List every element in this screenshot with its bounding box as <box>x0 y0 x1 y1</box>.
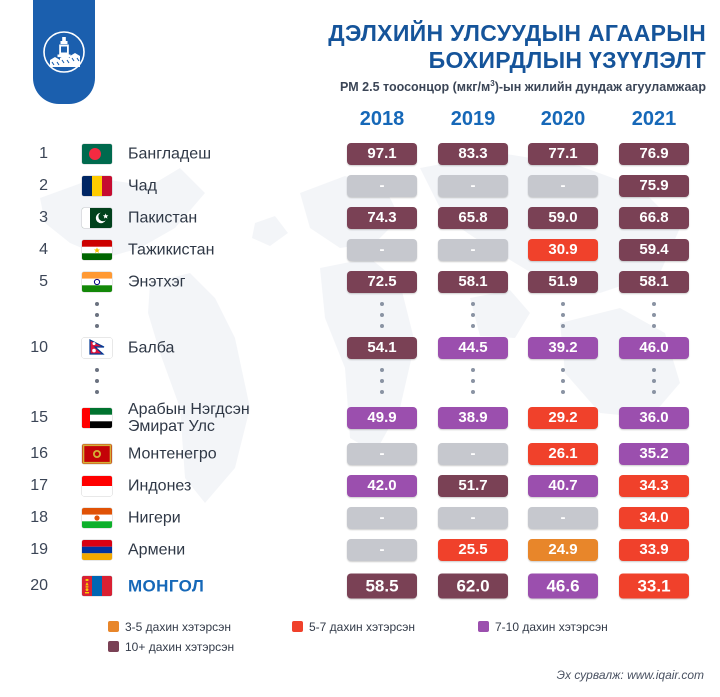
rank-gap-separator <box>0 298 720 332</box>
ellipsis-dots <box>652 302 656 335</box>
table-row: 10Балба54.144.539.246.0 <box>0 332 720 364</box>
ellipsis-dot <box>471 379 475 383</box>
ellipsis-dot <box>95 302 99 306</box>
value-cell: 58.1 <box>438 271 508 293</box>
country-name: Армени <box>128 542 185 559</box>
column-header-2021: 2021 <box>619 108 689 131</box>
ellipsis-dot <box>380 324 384 328</box>
value-cell: - <box>528 507 598 529</box>
country-name: МОНГОЛ <box>128 578 204 595</box>
value-cell: - <box>438 507 508 529</box>
flag-montenegro-icon <box>82 444 112 464</box>
ellipsis-dots <box>652 368 656 401</box>
value-cell: 58.1 <box>619 271 689 293</box>
value-cell: 74.3 <box>347 207 417 229</box>
value-cell: 77.1 <box>528 143 598 165</box>
country-name: Индонез <box>128 478 191 495</box>
ellipsis-dot <box>652 379 656 383</box>
rank-number: 5 <box>22 273 48 291</box>
header: ДЭЛХИЙН УЛСУУДЫН АГААРЫН БОХИРДЛЫН ҮЗҮҮЛ… <box>0 0 720 108</box>
ulaanbaatar-city-emblem-icon <box>41 29 87 75</box>
ellipsis-dot <box>380 302 384 306</box>
value-cell: - <box>438 239 508 261</box>
table-row: 5Энэтхэг72.558.151.958.1 <box>0 266 720 298</box>
ellipsis-dot <box>652 302 656 306</box>
value-cell: - <box>347 539 417 561</box>
value-cell: 66.8 <box>619 207 689 229</box>
value-cell: 72.5 <box>347 271 417 293</box>
source-credit: Эх сурвалж: www.iqair.com <box>557 668 704 682</box>
rank-number: 17 <box>22 477 48 495</box>
flag-tajikistan-icon <box>82 240 112 260</box>
ellipsis-dots <box>380 368 384 401</box>
legend-label: 3-5 дахин хэтэрсэн <box>125 620 231 634</box>
legend-item: 7-10 дахин хэтэрсэн <box>478 620 608 634</box>
ellipsis-dot <box>652 324 656 328</box>
ellipsis-dot <box>471 302 475 306</box>
value-cell: 51.7 <box>438 475 508 497</box>
flag-nepal-icon <box>82 338 112 358</box>
value-cell: 62.0 <box>438 574 508 599</box>
ellipsis-dots <box>561 368 565 401</box>
value-cell: 26.1 <box>528 443 598 465</box>
value-cell: 46.0 <box>619 337 689 359</box>
ellipsis-dot <box>471 368 475 372</box>
value-cell: 30.9 <box>528 239 598 261</box>
table-row: 4Тажикистан--30.959.4 <box>0 234 720 266</box>
infographic-page: ДЭЛХИЙН УЛСУУДЫН АГААРЫН БОХИРДЛЫН ҮЗҮҮЛ… <box>0 0 720 697</box>
value-cell: 54.1 <box>347 337 417 359</box>
page-subtitle: PM 2.5 тоосонцор (мкг/м3)-ын жилийн дунд… <box>328 79 706 94</box>
flag-niger-icon <box>82 508 112 528</box>
rank-number: 19 <box>22 541 48 559</box>
value-cell: - <box>438 175 508 197</box>
value-cell: 33.9 <box>619 539 689 561</box>
value-cell: - <box>347 175 417 197</box>
value-cell: 97.1 <box>347 143 417 165</box>
ellipsis-dot <box>471 313 475 317</box>
value-cell: 75.9 <box>619 175 689 197</box>
table-row: 1Бангладеш97.183.377.176.9 <box>0 138 720 170</box>
legend-swatch <box>292 621 303 632</box>
value-cell: 59.4 <box>619 239 689 261</box>
page-title-line2: БОХИРДЛЫН ҮЗҮҮЛЭЛТ <box>328 47 706 74</box>
value-cell: - <box>438 443 508 465</box>
ellipsis-dot <box>95 368 99 372</box>
ellipsis-dot <box>561 313 565 317</box>
column-header-2018: 2018 <box>347 108 417 131</box>
legend-label: 5-7 дахин хэтэрсэн <box>309 620 415 634</box>
flag-mongolia-icon <box>82 576 112 596</box>
ellipsis-dots <box>95 302 99 335</box>
legend-swatch <box>108 621 119 632</box>
value-cell: 46.6 <box>528 574 598 599</box>
rank-number: 4 <box>22 241 48 259</box>
ellipsis-dots <box>561 302 565 335</box>
ellipsis-dot <box>95 313 99 317</box>
country-table: 1Бангладеш97.183.377.176.92Чад---75.93Па… <box>0 138 720 606</box>
ellipsis-dot <box>471 324 475 328</box>
ellipsis-dot <box>652 390 656 394</box>
ellipsis-dot <box>380 390 384 394</box>
flag-armenia-icon <box>82 540 112 560</box>
country-name: Чад <box>128 178 157 195</box>
logo-banner <box>33 0 95 104</box>
table-row: 20МОНГОЛ58.562.046.633.1 <box>0 566 720 606</box>
value-cell: 59.0 <box>528 207 598 229</box>
value-cell: 49.9 <box>347 407 417 429</box>
country-name: Балба <box>128 340 174 357</box>
rank-number: 2 <box>22 177 48 195</box>
rank-number: 20 <box>22 577 48 595</box>
value-cell: - <box>528 175 598 197</box>
rank-number: 10 <box>22 339 48 357</box>
flag-bangladesh-icon <box>82 144 112 164</box>
value-cell: 34.0 <box>619 507 689 529</box>
ellipsis-dot <box>380 313 384 317</box>
value-cell: - <box>347 507 417 529</box>
table-row: 15Арабын Нэгдсэн Эмират Улс49.938.929.23… <box>0 398 720 438</box>
rank-number: 18 <box>22 509 48 527</box>
value-cell: 24.9 <box>528 539 598 561</box>
country-name: Нигери <box>128 510 181 527</box>
value-cell: - <box>347 443 417 465</box>
value-cell: 58.5 <box>347 574 417 599</box>
table-row: 18Нигери---34.0 <box>0 502 720 534</box>
value-cell: 36.0 <box>619 407 689 429</box>
country-name: Тажикистан <box>128 242 214 259</box>
legend-swatch <box>108 641 119 652</box>
ellipsis-dot <box>471 390 475 394</box>
value-cell: 42.0 <box>347 475 417 497</box>
value-cell: 39.2 <box>528 337 598 359</box>
rank-number: 16 <box>22 445 48 463</box>
value-cell: 83.3 <box>438 143 508 165</box>
value-cell: 29.2 <box>528 407 598 429</box>
column-header-2020: 2020 <box>528 108 598 131</box>
ellipsis-dots <box>380 302 384 335</box>
value-cell: 76.9 <box>619 143 689 165</box>
ellipsis-dots <box>95 368 99 401</box>
flag-pakistan-icon <box>82 208 112 228</box>
rank-number: 3 <box>22 209 48 227</box>
flag-uae-icon <box>82 408 112 428</box>
value-cell: 38.9 <box>438 407 508 429</box>
value-cell: 35.2 <box>619 443 689 465</box>
ellipsis-dot <box>95 390 99 394</box>
ellipsis-dots <box>471 302 475 335</box>
ellipsis-dot <box>95 324 99 328</box>
legend-label: 10+ дахин хэтэрсэн <box>125 640 234 654</box>
year-column-headers: 2018201920202021 <box>0 108 720 138</box>
ellipsis-dot <box>561 379 565 383</box>
rank-number: 15 <box>22 409 48 427</box>
ellipsis-dot <box>561 324 565 328</box>
legend-item: 10+ дахин хэтэрсэн <box>108 640 234 654</box>
country-name: Арабын Нэгдсэн Эмират Улс <box>128 401 250 435</box>
country-name: Пакистан <box>128 210 197 227</box>
flag-chad-icon <box>82 176 112 196</box>
rank-number: 1 <box>22 145 48 163</box>
table-row: 19Армени-25.524.933.9 <box>0 534 720 566</box>
rank-gap-separator <box>0 364 720 398</box>
legend-swatch <box>478 621 489 632</box>
country-name: Монтенегро <box>128 446 217 463</box>
table-row: 16Монтенегро--26.135.2 <box>0 438 720 470</box>
ellipsis-dot <box>561 368 565 372</box>
ellipsis-dot <box>652 368 656 372</box>
flag-india-icon <box>82 272 112 292</box>
ellipsis-dot <box>652 313 656 317</box>
value-cell: 34.3 <box>619 475 689 497</box>
ellipsis-dot <box>561 390 565 394</box>
column-header-2019: 2019 <box>438 108 508 131</box>
value-cell: 40.7 <box>528 475 598 497</box>
title-block: ДЭЛХИЙН УЛСУУДЫН АГААРЫН БОХИРДЛЫН ҮЗҮҮЛ… <box>328 20 706 94</box>
value-cell: 44.5 <box>438 337 508 359</box>
country-name: Бангладеш <box>128 146 211 163</box>
ellipsis-dot <box>95 379 99 383</box>
page-title-line1: ДЭЛХИЙН УЛСУУДЫН АГААРЫН <box>328 20 706 47</box>
ellipsis-dot <box>561 302 565 306</box>
legend-item: 3-5 дахин хэтэрсэн <box>108 620 231 634</box>
value-cell: 25.5 <box>438 539 508 561</box>
legend-item: 5-7 дахин хэтэрсэн <box>292 620 415 634</box>
value-cell: 33.1 <box>619 574 689 599</box>
flag-indonesia-icon <box>82 476 112 496</box>
table-row: 2Чад---75.9 <box>0 170 720 202</box>
value-cell: - <box>347 239 417 261</box>
legend-label: 7-10 дахин хэтэрсэн <box>495 620 608 634</box>
ellipsis-dot <box>380 379 384 383</box>
subtitle-prefix: PM 2.5 тоосонцор (мкг/м <box>340 80 490 94</box>
value-cell: 51.9 <box>528 271 598 293</box>
ellipsis-dot <box>380 368 384 372</box>
value-cell: 65.8 <box>438 207 508 229</box>
subtitle-suffix: )-ын жилийн дундаж агууламжаар <box>495 80 706 94</box>
country-name: Энэтхэг <box>128 274 185 291</box>
table-row: 17Индонез42.051.740.734.3 <box>0 470 720 502</box>
ellipsis-dots <box>471 368 475 401</box>
table-row: 3Пакистан74.365.859.066.8 <box>0 202 720 234</box>
